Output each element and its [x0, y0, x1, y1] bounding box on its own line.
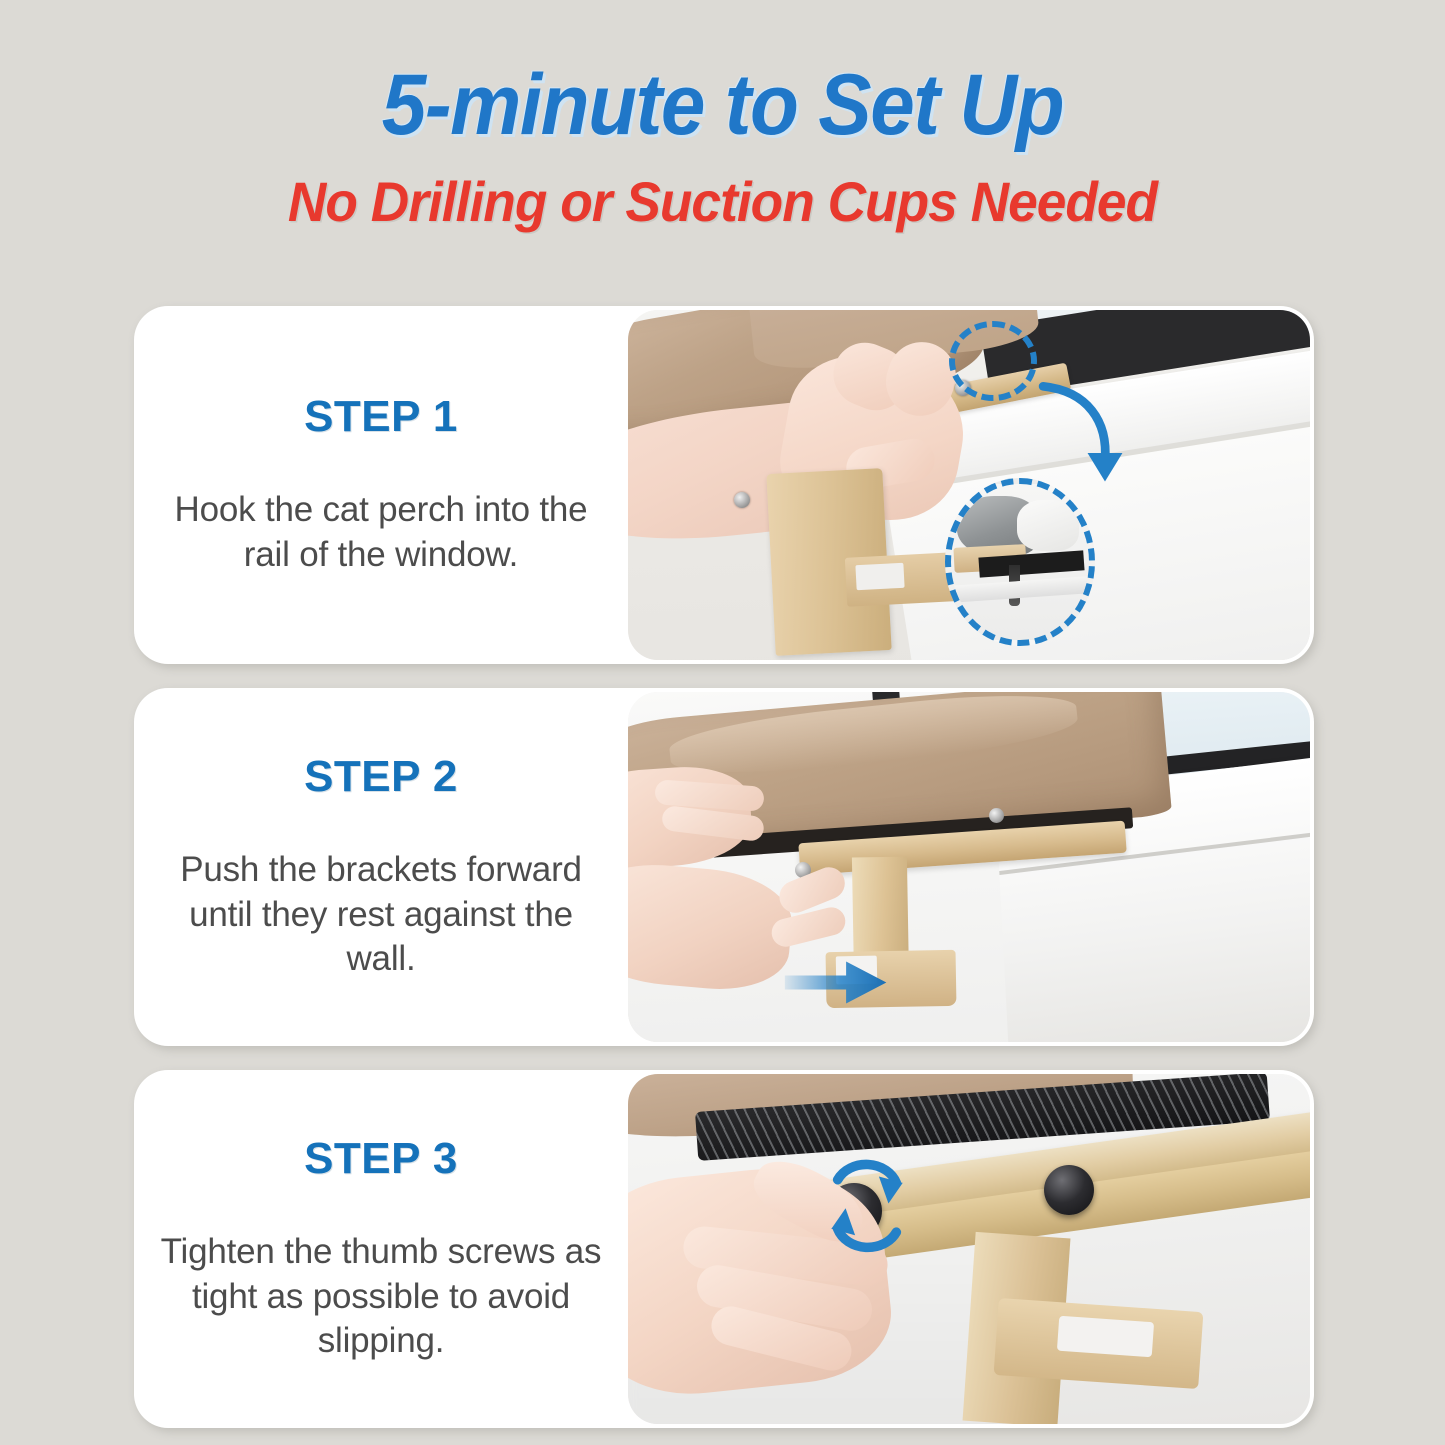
step-3-description: Tighten the thumb screws as tight as pos… [158, 1230, 604, 1364]
inset-white-cloth [1017, 500, 1079, 551]
screw-icon [989, 808, 1004, 823]
page-subtitle: No Drilling or Suction Cups Needed [36, 174, 1409, 230]
step-3-label: STEP 3 [304, 1134, 458, 1184]
step-2-description: Push the brackets forward until they res… [158, 848, 604, 982]
curved-arrow-down-icon [1003, 380, 1153, 499]
straight-arrow-right-icon [764, 958, 907, 1007]
rotation-arrows-icon [792, 1148, 942, 1267]
step-2-text-block: STEP 2 Push the brackets forward until t… [134, 688, 628, 1046]
page-header: 5-minute to Set Up No Drilling or Suctio… [0, 0, 1445, 230]
steps-list: STEP 1 Hook the cat perch into the rail … [134, 306, 1314, 1428]
step-card-1: STEP 1 Hook the cat perch into the rail … [134, 306, 1314, 664]
bracket-foot-notch [1057, 1316, 1155, 1358]
step-1-photo [628, 310, 1310, 660]
inset-window-rail [951, 576, 1090, 603]
detail-inset-circle [945, 478, 1095, 646]
step-1-description: Hook the cat perch into the rail of the … [158, 488, 604, 578]
step-1-label: STEP 1 [304, 392, 458, 442]
bracket-hook-notch [856, 563, 905, 590]
step-3-photo [628, 1074, 1310, 1424]
screw-icon [734, 492, 750, 508]
step-1-text-block: STEP 1 Hook the cat perch into the rail … [134, 306, 628, 664]
step-3-text-block: STEP 3 Tighten the thumb screws as tight… [134, 1070, 628, 1428]
step-card-3: STEP 3 Tighten the thumb screws as tight… [134, 1070, 1314, 1428]
step-2-photo [628, 692, 1310, 1042]
thumb-screw-right [1044, 1165, 1094, 1215]
step-card-2: STEP 2 Push the brackets forward until t… [134, 688, 1314, 1046]
step-2-label: STEP 2 [304, 752, 458, 802]
page-title: 5-minute to Set Up [51, 62, 1395, 148]
